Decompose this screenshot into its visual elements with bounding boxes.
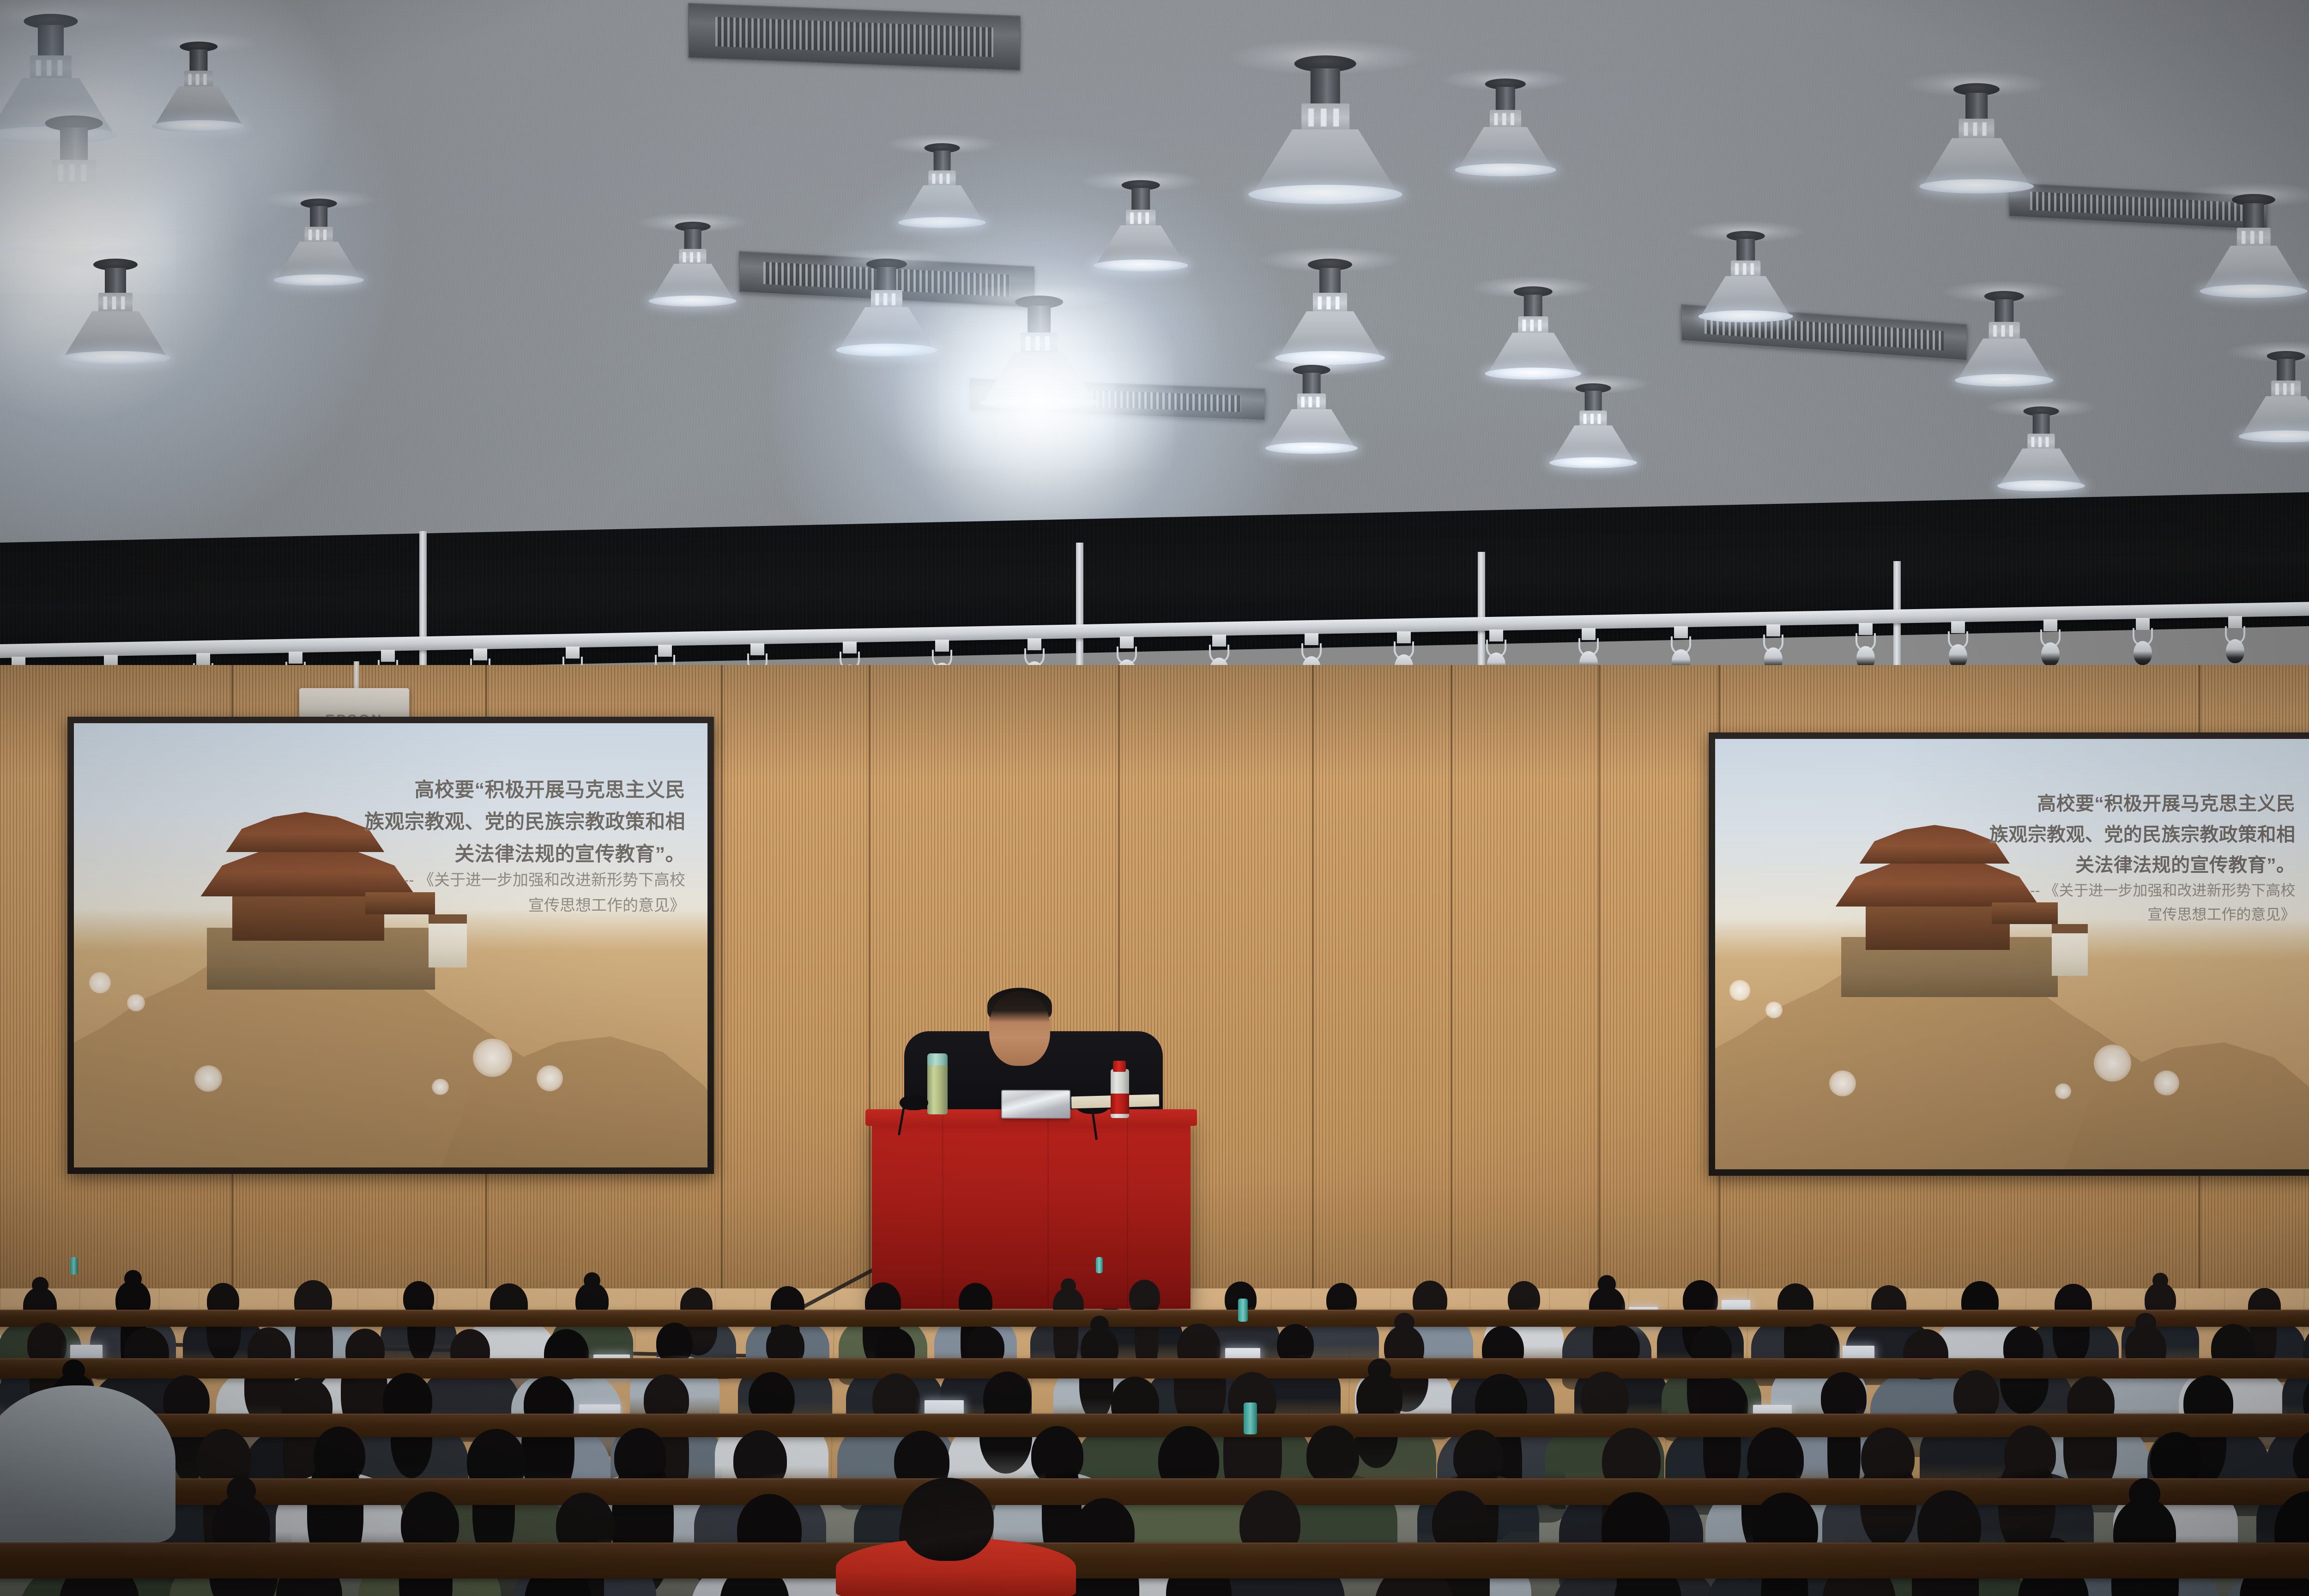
lamp-stem	[38, 25, 64, 58]
lamp-head	[679, 249, 706, 265]
slide-source-line-1: -- 《关于进一步加强和改进新形势下高校	[318, 868, 685, 893]
lamp-stem	[60, 127, 88, 162]
bokeh-circle	[537, 1065, 563, 1091]
audience-member-grey-hoodie	[0, 1385, 175, 1542]
audience-member-hair-bun	[124, 1270, 142, 1288]
lamp-head	[52, 160, 96, 186]
lamp-slots	[305, 230, 333, 240]
projector-mount-arm	[354, 661, 359, 689]
lamp-rim-glow	[1919, 179, 2034, 193]
lamp-slots	[52, 164, 96, 181]
lamp-slots	[98, 296, 133, 309]
slide-quote: 高校要“积极开展马克思主义民 族观宗教观、党的民族宗教政策和相 关法律法规的宣传…	[1958, 788, 2295, 880]
bokeh-circle	[1729, 980, 1750, 1001]
left-projection-screen: 高校要“积极开展马克思主义民 族观宗教观、党的民族宗教政策和相 关法律法规的宣传…	[67, 717, 714, 1174]
ceiling-lamp	[1904, 83, 2049, 208]
table-drape-fold	[1047, 1116, 1049, 1309]
lamp-slots	[2027, 437, 2055, 447]
audience-member-head	[1453, 1430, 1503, 1485]
ceiling-lamp	[823, 259, 950, 369]
slide-source-line-2: 宣传思想工作的意见》	[1946, 903, 2295, 927]
audience-member-hair-bun	[1090, 1316, 1109, 1335]
lamp-rim-glow	[2, 236, 145, 254]
lamp-rim-glow	[979, 395, 1098, 410]
thermos-flask	[927, 1059, 948, 1114]
lamp-slots	[1297, 397, 1326, 408]
bokeh-circle	[432, 1079, 449, 1095]
lamp-slots	[1518, 320, 1548, 331]
slide-source: -- 《关于进一步加强和改进新形势下高校 宣传思想工作的意见》	[1946, 879, 2295, 927]
audience-member-hair-bun	[2135, 1313, 2156, 1333]
table-drape-fold	[942, 1116, 943, 1309]
audience-member-head	[614, 1428, 666, 1486]
bokeh-circle	[2055, 1083, 2071, 1099]
lamp-rim-glow	[1094, 260, 1188, 272]
ceiling-lamp	[1472, 286, 1594, 392]
audience-member-head	[1031, 1426, 1083, 1484]
ceiling-lamp	[1442, 79, 1569, 189]
audience-member-head	[2004, 1426, 2056, 1483]
lamp-head	[2237, 228, 2271, 248]
lamp-head	[1579, 411, 1607, 427]
lamp-slots	[1126, 212, 1155, 224]
audience-member-hair-bun	[32, 1277, 48, 1294]
lamp-slots	[1313, 296, 1347, 309]
lamp-slots	[679, 252, 706, 263]
audience-water-bottle	[1244, 1403, 1257, 1434]
lamp-slots	[1579, 414, 1607, 424]
presenter-laptop[interactable]	[1001, 1090, 1070, 1118]
spotlight-can	[2226, 639, 2244, 663]
lamp-rim-glow	[1248, 185, 1402, 204]
lamp-head	[1731, 260, 1760, 278]
lamp-head	[1959, 119, 1995, 140]
water-bottle-label	[1111, 1094, 1129, 1114]
bokeh-circle	[2154, 1070, 2179, 1095]
lamp-slots	[871, 293, 902, 305]
lamp-stem	[1736, 239, 1755, 262]
lamp-head	[2271, 381, 2301, 398]
lamp-stem	[877, 267, 896, 291]
lamp-stem	[1311, 68, 1340, 106]
audience-member-hair-bun	[2129, 1478, 2160, 1510]
lamp-rim-glow	[273, 274, 363, 286]
lamp-slots	[1490, 113, 1521, 125]
lamp-stem	[934, 151, 951, 172]
left-screen-surface: 高校要“积极开展马克思主义民 族观宗教观、党的民族宗教政策和相 关法律法规的宣传…	[74, 723, 707, 1167]
lamp-stem	[1585, 391, 1602, 412]
lamp-stem	[1028, 306, 1051, 335]
ceiling-lamp	[1986, 406, 2097, 502]
lamp-slots	[184, 74, 213, 85]
lamp-head	[2027, 434, 2055, 450]
ceiling	[0, 0, 2309, 568]
bokeh-circle	[2094, 1045, 2131, 1082]
slide-source-line-2: 宣传思想工作的意见》	[318, 893, 685, 919]
presenter-head	[989, 991, 1050, 1066]
lamp-stem	[1524, 295, 1542, 318]
bokeh-circle	[89, 972, 111, 993]
bokeh-circle	[1829, 1070, 1856, 1096]
lamp-rim-glow	[1455, 163, 1556, 176]
lamp-rim-glow	[1275, 351, 1385, 365]
lamp-head	[1021, 332, 1058, 355]
lamp-slots	[928, 174, 955, 184]
lamp-rim-glow	[1955, 374, 2054, 387]
bench-desk	[0, 1542, 2309, 1578]
spotlight-can	[2134, 641, 2152, 665]
ceiling-lamp	[1081, 180, 1200, 284]
lamp-rim-glow	[1699, 310, 1793, 322]
lamp-stem	[2277, 359, 2295, 382]
lamp-stem	[2033, 414, 2050, 435]
slide-quote-line-2: 族观宗教观、党的民族宗教政策和相	[1958, 819, 2295, 850]
lamp-rim-glow	[60, 351, 170, 365]
slide-quote: 高校要“积极开展马克思主义民 族观宗教观、党的民族宗教政策和相 关法律法规的宣传…	[331, 774, 685, 871]
audience-member-hair-bun	[2152, 1273, 2168, 1288]
lamp-stem	[1319, 268, 1341, 295]
lamp-slots	[1301, 109, 1349, 127]
lamp-head	[1313, 293, 1347, 313]
right-screen-surface: 高校要“积极开展马克思主义民 族观宗教观、党的民族宗教政策和相 关法律法规的宣传…	[1715, 739, 2309, 1169]
ceiling-lamp	[887, 143, 997, 239]
lamp-slots	[1731, 263, 1760, 274]
audience-water-bottle	[1238, 1299, 1248, 1322]
audience-member-hair-bun	[1394, 1313, 1414, 1333]
spotlight-can	[2041, 642, 2060, 666]
lamp-stem	[105, 268, 126, 295]
bench-desk	[0, 1310, 2309, 1327]
lamp-stem	[189, 49, 207, 72]
ceiling-lamp	[1253, 365, 1370, 465]
lamp-head	[1301, 103, 1349, 132]
ceiling-lamp	[1686, 231, 1805, 334]
lamp-stem	[310, 206, 327, 228]
lamp-head	[1518, 316, 1548, 334]
audience-member-hair-bun	[584, 1272, 600, 1289]
lamp-head	[1989, 322, 2020, 340]
right-projection-screen: 高校要“积极开展马克思主义民 族观宗教观、党的民族宗教政策和相 关法律法规的宣传…	[1709, 732, 2309, 1176]
lamp-head	[1297, 393, 1326, 411]
lamp-head	[30, 55, 72, 80]
slide-quote-line-2: 族观宗教观、党的民族宗教政策和相	[331, 806, 685, 839]
audience-member-hair-bun	[1061, 1278, 1076, 1294]
audience-member-head	[314, 1427, 365, 1485]
lamp-rim-glow	[2239, 430, 2309, 442]
slide-quote-line-3: 关法律法规的宣传教育”。	[331, 839, 685, 871]
lamp-stem	[1496, 87, 1515, 111]
bokeh-circle	[127, 994, 145, 1012]
ceiling-lamp	[1261, 259, 1399, 379]
lecture-hall-photo: EPSON 高校要“积极开展马克思主义民 族观宗教观、党的民族宗教政策和相 关	[0, 0, 2309, 1596]
lamp-head	[98, 293, 133, 313]
lamp-stem	[1131, 188, 1150, 211]
ceiling-lamp	[964, 296, 1114, 425]
audience-member-hair-bun	[227, 1476, 256, 1505]
lamp-head	[184, 71, 213, 88]
slide-white-building	[429, 914, 466, 967]
ceiling-lamp	[262, 199, 375, 297]
lamp-slots	[2271, 383, 2301, 394]
wall-post	[1076, 543, 1083, 681]
slide-quote-line-1: 高校要“积极开展马克思主义民	[331, 774, 685, 807]
audience-member-head	[901, 1478, 994, 1561]
wall-post	[419, 531, 427, 683]
lamp-stem	[684, 229, 701, 250]
lamp-slots	[1959, 122, 1995, 136]
lamp-stem	[1965, 93, 1988, 121]
slide-quote-line-1: 高校要“积极开展马克思主义民	[1958, 788, 2295, 819]
slide-white-building	[2052, 924, 2088, 976]
bokeh-circle	[194, 1065, 222, 1092]
lamp-stem	[1995, 299, 2013, 323]
audience-member-hair-bun	[1598, 1275, 1616, 1293]
ceiling-lamp	[1538, 383, 1649, 479]
lamp-head	[928, 170, 955, 187]
lamp-head	[871, 290, 902, 308]
bokeh-circle	[1765, 1002, 1782, 1018]
audience-member-head	[656, 1323, 693, 1363]
audience-water-bottle	[1096, 1257, 1103, 1273]
slide-source-line-1: -- 《关于进一步加强和改进新形势下高校	[1946, 879, 2295, 903]
lamp-rim-glow	[836, 344, 937, 357]
lamp-head	[305, 227, 333, 243]
lamp-rim-glow	[1549, 457, 1637, 468]
lamp-slots	[2237, 231, 2271, 244]
thermos-cap	[927, 1053, 948, 1065]
lamp-stem	[2243, 203, 2264, 230]
lamp-slots	[1021, 336, 1058, 350]
ceiling-lamp	[1228, 55, 1422, 224]
ceiling-lamp	[1942, 291, 2067, 399]
lamp-rim-glow	[152, 120, 245, 132]
lamp-head	[1490, 110, 1521, 128]
ceiling-lamp	[46, 259, 185, 379]
audience-member-head	[1306, 1426, 1359, 1484]
water-bottle-cap	[1113, 1061, 1126, 1072]
lamp-rim-glow	[649, 296, 737, 307]
lamp-rim-glow	[1485, 368, 1581, 380]
slide-source: -- 《关于进一步加强和改进新形势下高校 宣传思想工作的意见》	[318, 868, 685, 919]
ceiling-lamp	[2226, 351, 2309, 454]
lamp-rim-glow	[898, 217, 986, 228]
ceiling-lamp	[2186, 194, 2309, 312]
lamp-rim-glow	[1265, 442, 1358, 454]
lamp-head	[1126, 210, 1155, 227]
ceiling-lamp	[140, 42, 258, 144]
lamp-slots	[1989, 325, 2020, 337]
table-drape-fold	[1127, 1116, 1128, 1309]
audience-water-bottle	[70, 1257, 78, 1275]
lamp-stem	[1303, 373, 1321, 395]
lamp-rim-glow	[2200, 284, 2307, 298]
lamp-slots	[30, 60, 72, 76]
ceiling-lamp	[637, 222, 748, 318]
audience-member-hair-bun	[62, 1360, 85, 1382]
bokeh-circle	[473, 1039, 512, 1077]
lamp-rim-glow	[1997, 480, 2085, 491]
slide-quote-line-3: 关法律法规的宣传教育”。	[1958, 850, 2295, 880]
